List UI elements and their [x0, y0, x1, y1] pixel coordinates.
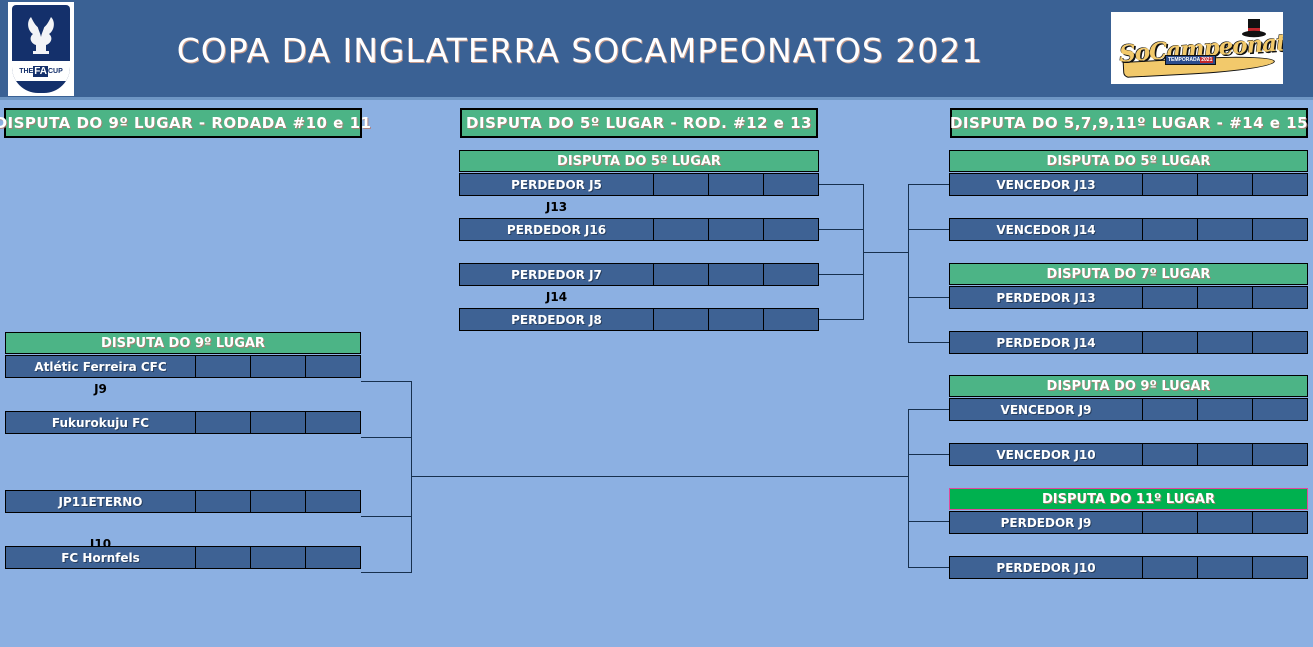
score-cell[interactable] [1253, 511, 1308, 534]
score-cell[interactable] [196, 490, 251, 513]
score-cell[interactable] [251, 546, 306, 569]
connector [908, 297, 950, 298]
score-cell[interactable] [1253, 556, 1308, 579]
score-cell[interactable] [251, 411, 306, 434]
score-cell[interactable] [1253, 286, 1308, 309]
score-cell[interactable] [1253, 331, 1308, 354]
match-row[interactable]: PERDEDOR J5 [459, 173, 819, 196]
connector [908, 409, 909, 567]
bracket-right-9th: DISPUTA DO 9º LUGAR [949, 375, 1308, 397]
match-row[interactable]: JP11ETERNO [5, 490, 361, 513]
score-cell[interactable] [1198, 173, 1253, 196]
match-row[interactable]: PERDEDOR J9 [949, 511, 1308, 534]
score-cell[interactable] [764, 263, 819, 286]
match-label: J13 [459, 196, 654, 218]
score-cell[interactable] [196, 546, 251, 569]
team-name: VENCEDOR J9 [949, 398, 1143, 421]
match-row[interactable]: VENCEDOR J9 [949, 398, 1308, 421]
connector [361, 381, 411, 382]
match-label: J9 [5, 378, 196, 400]
score-cell[interactable] [709, 173, 764, 196]
bracket-right-5th: DISPUTA DO 5º LUGAR [949, 150, 1308, 172]
group-header: DISPUTA DO 9º LUGAR [949, 375, 1308, 397]
score-cell[interactable] [1143, 286, 1198, 309]
score-cell[interactable] [764, 308, 819, 331]
page-title: COPA DA INGLATERRA SOCAMPEONATOS 2021 [90, 0, 1070, 100]
team-name: FC Hornfels [5, 546, 196, 569]
score-cell[interactable] [1143, 398, 1198, 421]
connector [908, 521, 950, 522]
score-cell[interactable] [306, 355, 361, 378]
connector [908, 184, 950, 185]
connector [908, 184, 909, 342]
match-row[interactable]: VENCEDOR J14 [949, 218, 1308, 241]
score-cell[interactable] [251, 355, 306, 378]
score-cell[interactable] [1143, 218, 1198, 241]
group-header: DISPUTA DO 5º LUGAR [949, 150, 1308, 172]
score-cell[interactable] [1198, 443, 1253, 466]
score-cell[interactable] [1143, 556, 1198, 579]
bracket-right-11th: DISPUTA DO 11º LUGAR [949, 488, 1308, 510]
group-header: DISPUTA DO 9º LUGAR [5, 332, 361, 354]
team-name: VENCEDOR J14 [949, 218, 1143, 241]
team-name: JP11ETERNO [5, 490, 196, 513]
team-name: PERDEDOR J8 [459, 308, 654, 331]
score-cell[interactable] [196, 411, 251, 434]
score-cell[interactable] [709, 263, 764, 286]
score-cell[interactable] [654, 263, 709, 286]
fa-cup-logo: THEFACUP [8, 2, 74, 96]
bracket-right-7th: DISPUTA DO 7º LUGAR [949, 263, 1308, 285]
connector [863, 252, 909, 253]
score-cell[interactable] [1143, 443, 1198, 466]
score-cell[interactable] [1253, 173, 1308, 196]
match-row[interactable]: PERDEDOR J13 [949, 286, 1308, 309]
team-name: PERDEDOR J14 [949, 331, 1143, 354]
match-row[interactable]: VENCEDOR J13 [949, 173, 1308, 196]
score-cell[interactable] [1198, 511, 1253, 534]
score-cell[interactable] [1143, 331, 1198, 354]
connector [908, 567, 950, 568]
connector [818, 274, 864, 275]
match-row[interactable]: PERDEDOR J16 [459, 218, 819, 241]
score-cell[interactable] [196, 355, 251, 378]
match-row[interactable]: PERDEDOR J10 [949, 556, 1308, 579]
score-cell[interactable] [709, 308, 764, 331]
top-hat-icon [1241, 18, 1267, 42]
team-name: PERDEDOR J9 [949, 511, 1143, 534]
connector [361, 516, 411, 517]
team-name: VENCEDOR J10 [949, 443, 1143, 466]
score-cell[interactable] [1198, 331, 1253, 354]
section-title-left: DISPUTA DO 9º LUGAR - RODADA #10 e 11 [4, 108, 362, 138]
score-cell[interactable] [764, 218, 819, 241]
match-row[interactable]: FC Hornfels [5, 546, 361, 569]
connector [818, 319, 864, 320]
team-name: PERDEDOR J7 [459, 263, 654, 286]
match-row[interactable]: PERDEDOR J8 [459, 308, 819, 331]
connector [361, 572, 411, 573]
score-cell[interactable] [1198, 218, 1253, 241]
score-cell[interactable] [654, 308, 709, 331]
fa-cup-shield-icon: THEFACUP [12, 5, 70, 93]
match-row[interactable]: Fukurokuju FC [5, 411, 361, 434]
score-cell[interactable] [654, 173, 709, 196]
score-cell[interactable] [1143, 173, 1198, 196]
logo-prefix: So [1118, 39, 1150, 68]
connector [818, 184, 864, 185]
score-cell[interactable] [1253, 398, 1308, 421]
team-name: VENCEDOR J13 [949, 173, 1143, 196]
score-cell[interactable] [1143, 511, 1198, 534]
score-cell[interactable] [306, 546, 361, 569]
fa-logo-the: THE [19, 68, 33, 75]
connector [818, 229, 864, 230]
score-cell[interactable] [1253, 218, 1308, 241]
match-row[interactable]: PERDEDOR J14 [949, 331, 1308, 354]
bracket-left-9th: DISPUTA DO 9º LUGAR [5, 332, 361, 354]
team-name: Fukurokuju FC [5, 411, 196, 434]
team-name: PERDEDOR J16 [459, 218, 654, 241]
team-name: PERDEDOR J5 [459, 173, 654, 196]
connector [908, 409, 950, 410]
socampeonatos-logo: SoCampeonatos TEMPORADA2021 [1111, 12, 1283, 84]
connector [908, 229, 950, 230]
trophy-icon [24, 13, 58, 59]
connector [908, 454, 950, 455]
match-row[interactable]: PERDEDOR J7 [459, 263, 819, 286]
score-cell[interactable] [306, 411, 361, 434]
section-title-middle: DISPUTA DO 5º LUGAR - ROD. #12 e 13 [460, 108, 818, 138]
score-cell[interactable] [764, 173, 819, 196]
bracket-middle-5th: DISPUTA DO 5º LUGAR [459, 150, 819, 172]
score-cell[interactable] [1253, 443, 1308, 466]
score-cell[interactable] [1198, 398, 1253, 421]
team-name: PERDEDOR J13 [949, 286, 1143, 309]
team-name: PERDEDOR J10 [949, 556, 1143, 579]
score-cell[interactable] [251, 490, 306, 513]
match-row[interactable]: VENCEDOR J10 [949, 443, 1308, 466]
page-header: THEFACUP COPA DA INGLATERRA SOCAMPEONATO… [0, 0, 1313, 100]
team-name: Atlétic Ferreira CFC [5, 355, 196, 378]
connector [908, 342, 950, 343]
fa-logo-cup: CUP [48, 68, 63, 75]
group-header: DISPUTA DO 5º LUGAR [459, 150, 819, 172]
logo-season-year: 2021 [1200, 57, 1213, 63]
score-cell[interactable] [1198, 556, 1253, 579]
match-row[interactable]: Atlétic Ferreira CFC [5, 355, 361, 378]
score-cell[interactable] [654, 218, 709, 241]
score-cell[interactable] [306, 490, 361, 513]
fa-cup-wordmark: THEFACUP [12, 61, 70, 81]
group-header: DISPUTA DO 11º LUGAR [949, 488, 1308, 510]
connector [411, 476, 908, 477]
score-cell[interactable] [709, 218, 764, 241]
logo-season-label: TEMPORADA [1168, 57, 1200, 63]
logo-season-badge: TEMPORADA2021 [1165, 55, 1216, 65]
group-header: DISPUTA DO 7º LUGAR [949, 263, 1308, 285]
score-cell[interactable] [1198, 286, 1253, 309]
section-title-right: DISPUTA DO 5,7,9,11º LUGAR - #14 e 15 [950, 108, 1308, 138]
match-label: J14 [459, 286, 654, 308]
fa-logo-fa: FA [33, 66, 48, 77]
connector [361, 437, 411, 438]
